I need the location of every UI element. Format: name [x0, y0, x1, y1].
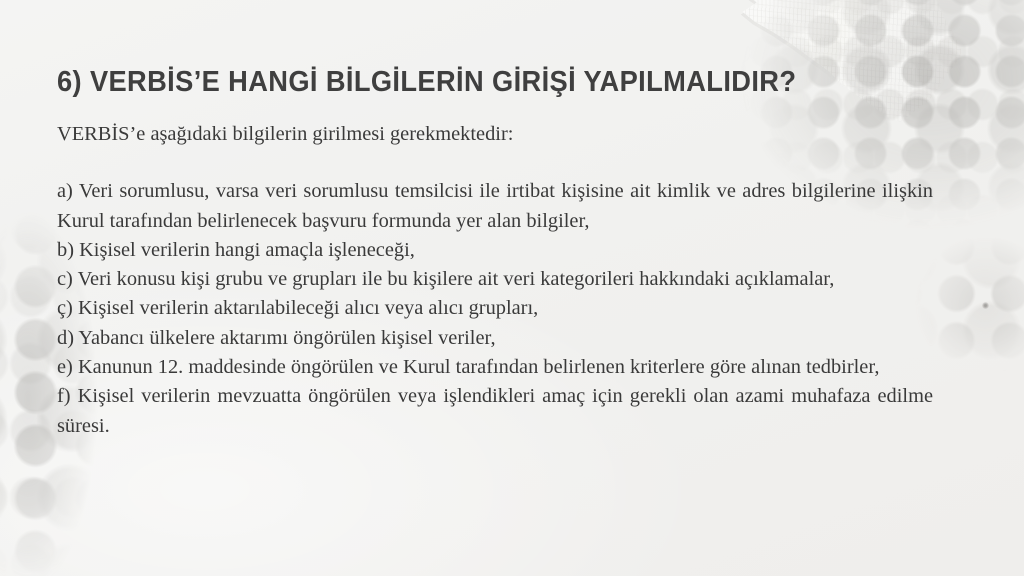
slide-content: 6) VERBİS’E HANGİ BİLGİLERİN GİRİŞİ YAPI…	[0, 0, 1024, 576]
list-item-c: c) Veri konusu kişi grubu ve grupları il…	[57, 265, 933, 294]
list-item-d: d) Yabancı ülkelere aktarımı öngörülen k…	[57, 324, 933, 353]
page-title: 6) VERBİS’E HANGİ BİLGİLERİN GİRİŞİ YAPI…	[57, 65, 903, 100]
intro-paragraph: VERBİS’e aşağıdaki bilgilerin girilmesi …	[57, 120, 933, 149]
list-item-c-cedilla: ç) Kişisel verilerin aktarılabileceği al…	[57, 294, 933, 323]
list-item-b: b) Kişisel verilerin hangi amaçla işlene…	[57, 236, 933, 265]
list-item-e: e) Kanunun 12. maddesinde öngörülen ve K…	[57, 353, 933, 382]
list-item-f: f) Kişisel verilerin mevzuatta öngörülen…	[57, 382, 933, 441]
list-item-a: a) Veri sorumlusu, varsa veri sorumlusu …	[57, 177, 933, 236]
body-text-block: VERBİS’e aşağıdaki bilgilerin girilmesi …	[57, 120, 933, 441]
slide-canvas: 6) VERBİS’E HANGİ BİLGİLERİN GİRİŞİ YAPI…	[0, 0, 1024, 576]
